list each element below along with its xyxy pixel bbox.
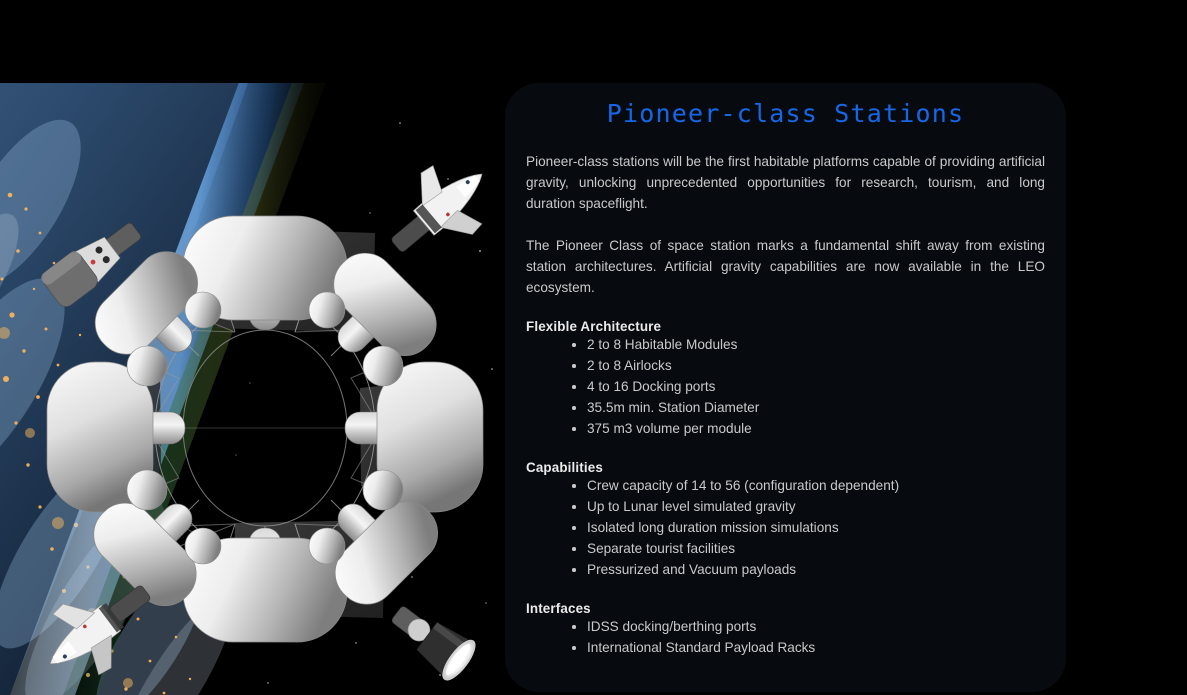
- feature-list-flexible-architecture: 2 to 8 Habitable Modules 2 to 8 Airlocks…: [526, 334, 1045, 439]
- station-scene-illustration: [0, 83, 506, 695]
- list-item: Separate tourist facilities: [526, 538, 1045, 559]
- list-item: 2 to 8 Airlocks: [526, 355, 1045, 376]
- station-info-card: Pioneer-class Stations Pioneer-class sta…: [505, 83, 1066, 692]
- list-item: International Standard Payload Racks: [526, 637, 1045, 658]
- section-heading-capabilities: Capabilities: [526, 460, 1045, 475]
- intro-paragraph-1: Pioneer-class stations will be the first…: [526, 151, 1045, 214]
- page-title: Pioneer-class Stations: [526, 99, 1045, 129]
- feature-list-interfaces: IDSS docking/berthing ports Internationa…: [526, 616, 1045, 658]
- list-item: 4 to 16 Docking ports: [526, 376, 1045, 397]
- list-item: Pressurized and Vacuum payloads: [526, 559, 1045, 580]
- section-heading-flexible-architecture: Flexible Architecture: [526, 319, 1045, 334]
- list-item: 2 to 8 Habitable Modules: [526, 334, 1045, 355]
- feature-list-capabilities: Crew capacity of 14 to 56 (configuration…: [526, 475, 1045, 580]
- list-item: Crew capacity of 14 to 56 (configuration…: [526, 475, 1045, 496]
- section-heading-interfaces: Interfaces: [526, 601, 1045, 616]
- list-item: IDSS docking/berthing ports: [526, 616, 1045, 637]
- page-root: Pioneer-class Stations Pioneer-class sta…: [0, 0, 1187, 695]
- intro-paragraph-2: The Pioneer Class of space station marks…: [526, 235, 1045, 298]
- list-item: 35.5m min. Station Diameter: [526, 397, 1045, 418]
- list-item: Isolated long duration mission simulatio…: [526, 517, 1045, 538]
- hero-image-station-render: [0, 83, 506, 695]
- list-item: 375 m3 volume per module: [526, 418, 1045, 439]
- list-item: Up to Lunar level simulated gravity: [526, 496, 1045, 517]
